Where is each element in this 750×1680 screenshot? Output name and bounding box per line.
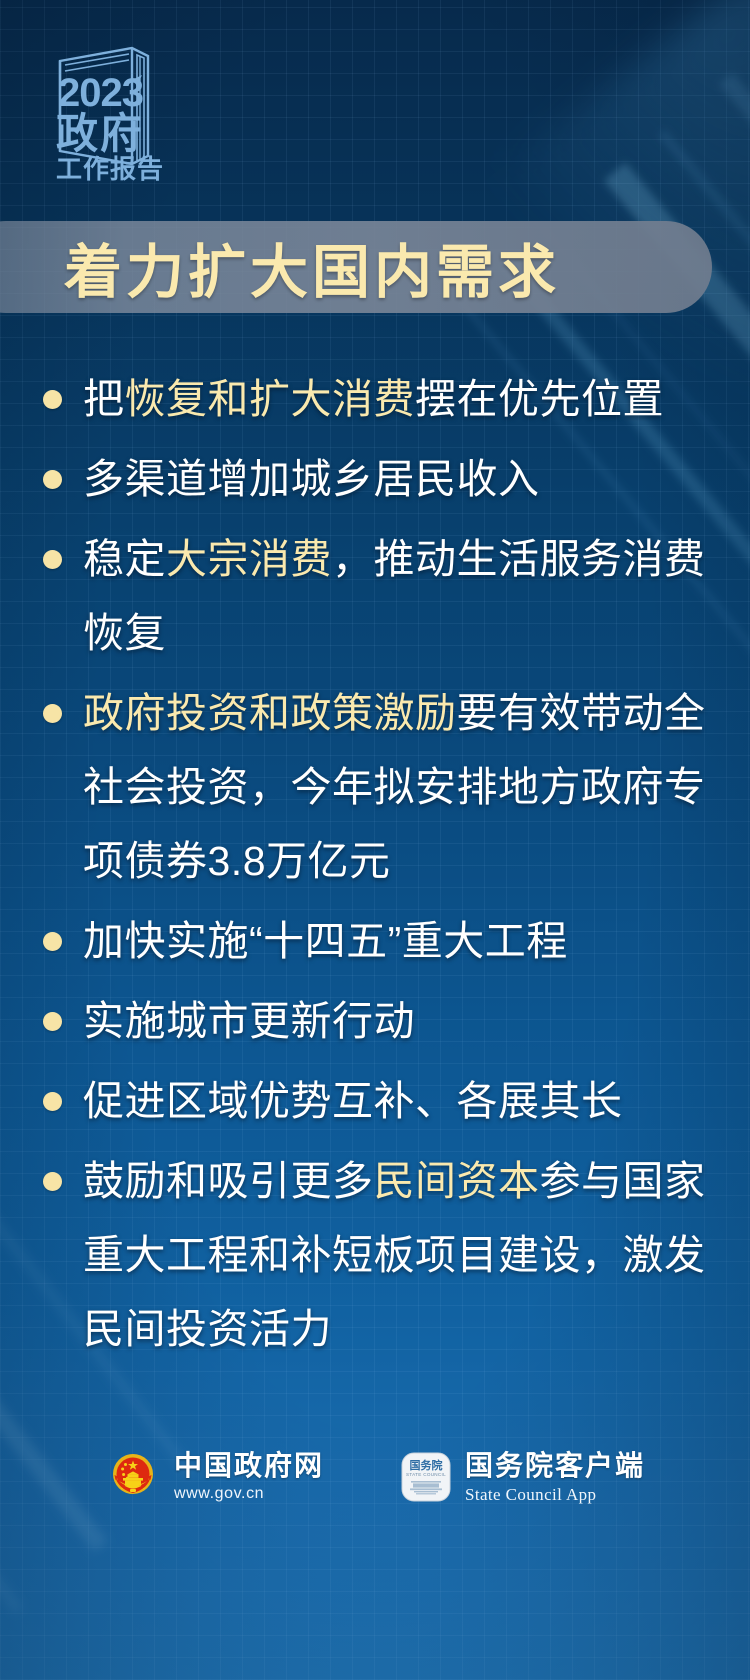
list-item-text: 多渠道增加城乡居民收入 (83, 442, 732, 516)
list-item: 多渠道增加城乡居民收入 (0, 442, 750, 516)
poster-root: 2023 政府 工作报告 着力扩大国内需求 把恢复和扩大消费摆在优先位置多渠道增… (0, 0, 750, 1680)
brand-china-gov[interactable]: 中国政府网 www.gov.cn (105, 1449, 324, 1505)
page-title: 着力扩大国内需求 (64, 219, 724, 315)
list-item-text: 加快实施“十四五”重大工程 (83, 904, 732, 978)
plain-phrase: 摆在优先位置 (415, 376, 664, 422)
list-item-text: 鼓励和吸引更多民间资本参与国家重大工程和补短板项目建设，激发民间投资活力 (83, 1144, 732, 1366)
plain-phrase: 促进区域优势互补、各展其长 (83, 1078, 623, 1124)
list-item: 加快实施“十四五”重大工程 (0, 904, 750, 978)
bullet-dot-icon (43, 470, 62, 489)
app-name-cn: 国务院客户端 (465, 1452, 645, 1480)
highlight-phrase: 恢复和扩大消费 (125, 376, 416, 422)
list-item: 把恢复和扩大消费摆在优先位置 (0, 362, 750, 436)
state-council-app-icon: 国务院 STATE COUNCIL (400, 1451, 452, 1503)
app-name-en: State Council App (465, 1486, 645, 1503)
list-item-text: 促进区域优势互补、各展其长 (83, 1064, 732, 1138)
plain-phrase: 多渠道增加城乡居民收入 (83, 456, 540, 502)
app-icon-label-en: STATE COUNCIL (406, 1472, 446, 1477)
bullet-dot-icon (43, 1012, 62, 1031)
logo-line-3: 工作报告 (56, 154, 164, 183)
report-logo: 2023 政府 工作报告 (36, 38, 186, 183)
logo-line-2: 政府 (56, 110, 144, 157)
list-item: 鼓励和吸引更多民间资本参与国家重大工程和补短板项目建设，激发民间投资活力 (0, 1144, 750, 1366)
list-item: 政府投资和政策激励要有效带动全社会投资，今年拟安排地方政府专项债券3.8万亿元 (0, 676, 750, 898)
highlight-phrase: 政府投资和政策激励 (83, 690, 457, 736)
bullet-dot-icon (43, 704, 62, 723)
list-item: 稳定大宗消费，推动生活服务消费恢复 (0, 522, 750, 670)
bullet-dot-icon (43, 1092, 62, 1111)
plain-phrase: 实施城市更新行动 (83, 998, 415, 1044)
list-item-text: 政府投资和政策激励要有效带动全社会投资，今年拟安排地方政府专项债券3.8万亿元 (83, 676, 732, 898)
list-item-text: 实施城市更新行动 (83, 984, 732, 1058)
bullet-dot-icon (43, 550, 62, 569)
bullet-dot-icon (43, 390, 62, 409)
plain-phrase: 把 (83, 376, 125, 422)
bullet-dot-icon (43, 1172, 62, 1191)
bullet-list: 把恢复和扩大消费摆在优先位置多渠道增加城乡居民收入稳定大宗消费，推动生活服务消费… (0, 362, 750, 1372)
plain-phrase: 加快实施“十四五”重大工程 (83, 918, 568, 964)
plain-phrase: 稳定 (83, 536, 166, 582)
app-icon-label-cn: 国务院 (410, 1458, 443, 1472)
highlight-phrase: 民间资本 (374, 1158, 540, 1204)
footer-brands: 中国政府网 www.gov.cn 国务院 STATE COUNCIL 国务院 (0, 1449, 750, 1505)
highlight-phrase: 大宗消费 (166, 536, 332, 582)
plain-phrase: 鼓励和吸引更多 (83, 1158, 374, 1204)
list-item-text: 把恢复和扩大消费摆在优先位置 (83, 362, 732, 436)
gov-site-name: 中国政府网 (174, 1452, 324, 1480)
gov-site-url: www.gov.cn (174, 1486, 324, 1502)
list-item-text: 稳定大宗消费，推动生活服务消费恢复 (83, 522, 732, 670)
brand-state-council-app[interactable]: 国务院 STATE COUNCIL 国务院客户端 State Council A… (400, 1451, 645, 1503)
national-emblem-icon (105, 1449, 161, 1505)
list-item: 促进区域优势互补、各展其长 (0, 1064, 750, 1138)
logo-year: 2023 (58, 71, 143, 115)
bullet-dot-icon (43, 932, 62, 951)
list-item: 实施城市更新行动 (0, 984, 750, 1058)
